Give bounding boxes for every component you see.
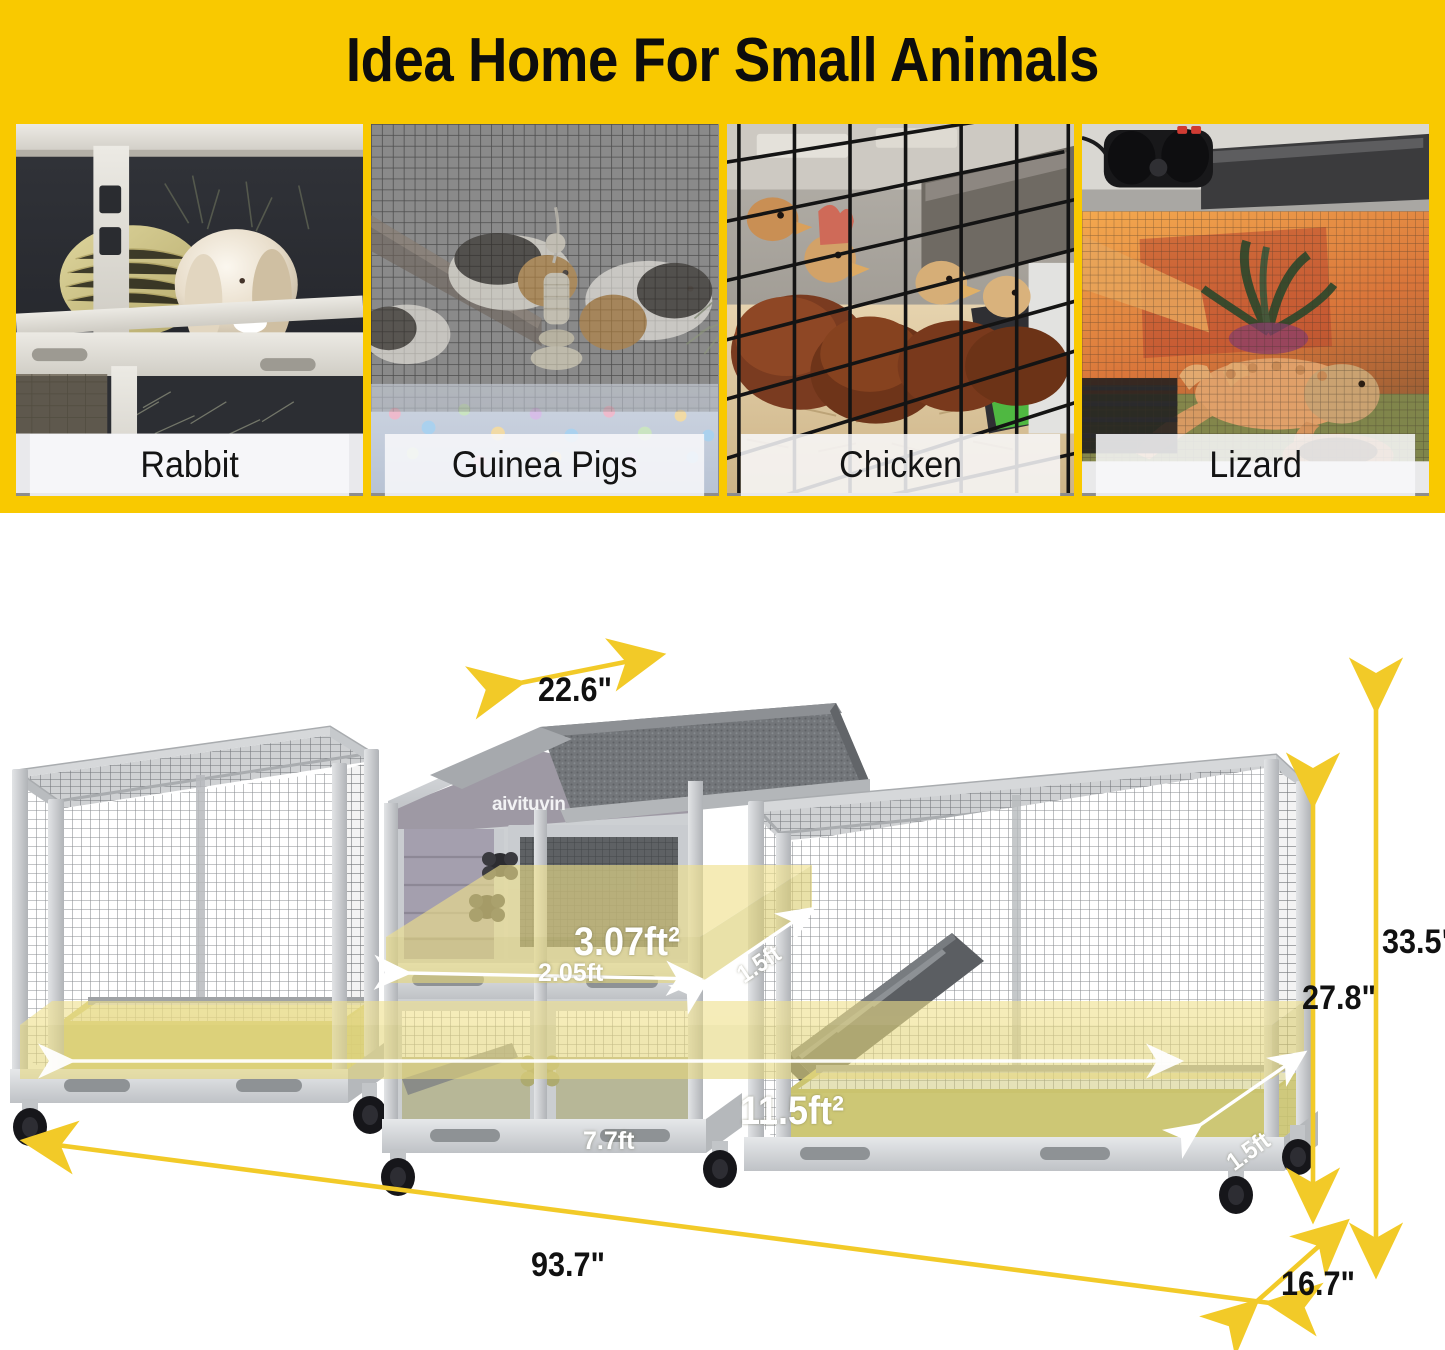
photo-card-lizard: Lizard xyxy=(1082,124,1429,496)
product-dimension-diagram: aivituvin 22.6" 33.5" 27.8" 93.7" 16.7" … xyxy=(0,513,1445,1350)
dimension-label-total-height: 33.5" xyxy=(1382,923,1445,962)
animal-photo-strip: Rabbit xyxy=(16,124,1429,496)
photo-caption-rabbit: Rabbit xyxy=(30,434,349,496)
caster-wheel xyxy=(13,1099,47,1146)
hutch-illustration xyxy=(0,513,1445,1350)
length-label-lower-width: 7.7ft xyxy=(583,1127,634,1156)
dimension-label-body-height: 27.8" xyxy=(1302,979,1376,1018)
length-label-upper-width: 2.05ft xyxy=(538,959,603,988)
lower-area-highlight xyxy=(20,1001,1304,1079)
dimension-label-total-length: 93.7" xyxy=(531,1246,605,1285)
rabbit-body xyxy=(175,229,298,347)
dimension-label-roof-depth: 22.6" xyxy=(538,671,612,710)
photo-card-rabbit: Rabbit xyxy=(16,124,363,496)
photo-card-chicken: Chicken xyxy=(727,124,1074,496)
photo-card-guinea-pigs: Guinea Pigs xyxy=(371,124,718,496)
left-run-section xyxy=(10,727,387,1146)
product-infographic: Idea Home For Small Animals xyxy=(0,0,1445,1350)
area-label-lower-run: 11.5ft² xyxy=(740,1089,844,1134)
top-banner: Idea Home For Small Animals xyxy=(0,0,1445,513)
dimension-label-total-depth: 16.7" xyxy=(1281,1265,1355,1304)
photo-caption-guinea-pigs: Guinea Pigs xyxy=(385,434,704,496)
photo-caption-chicken: Chicken xyxy=(740,434,1059,496)
page-title: Idea Home For Small Animals xyxy=(87,28,1359,93)
brand-logo-text: aivituvin xyxy=(492,794,565,816)
photo-caption-lizard: Lizard xyxy=(1096,434,1415,496)
